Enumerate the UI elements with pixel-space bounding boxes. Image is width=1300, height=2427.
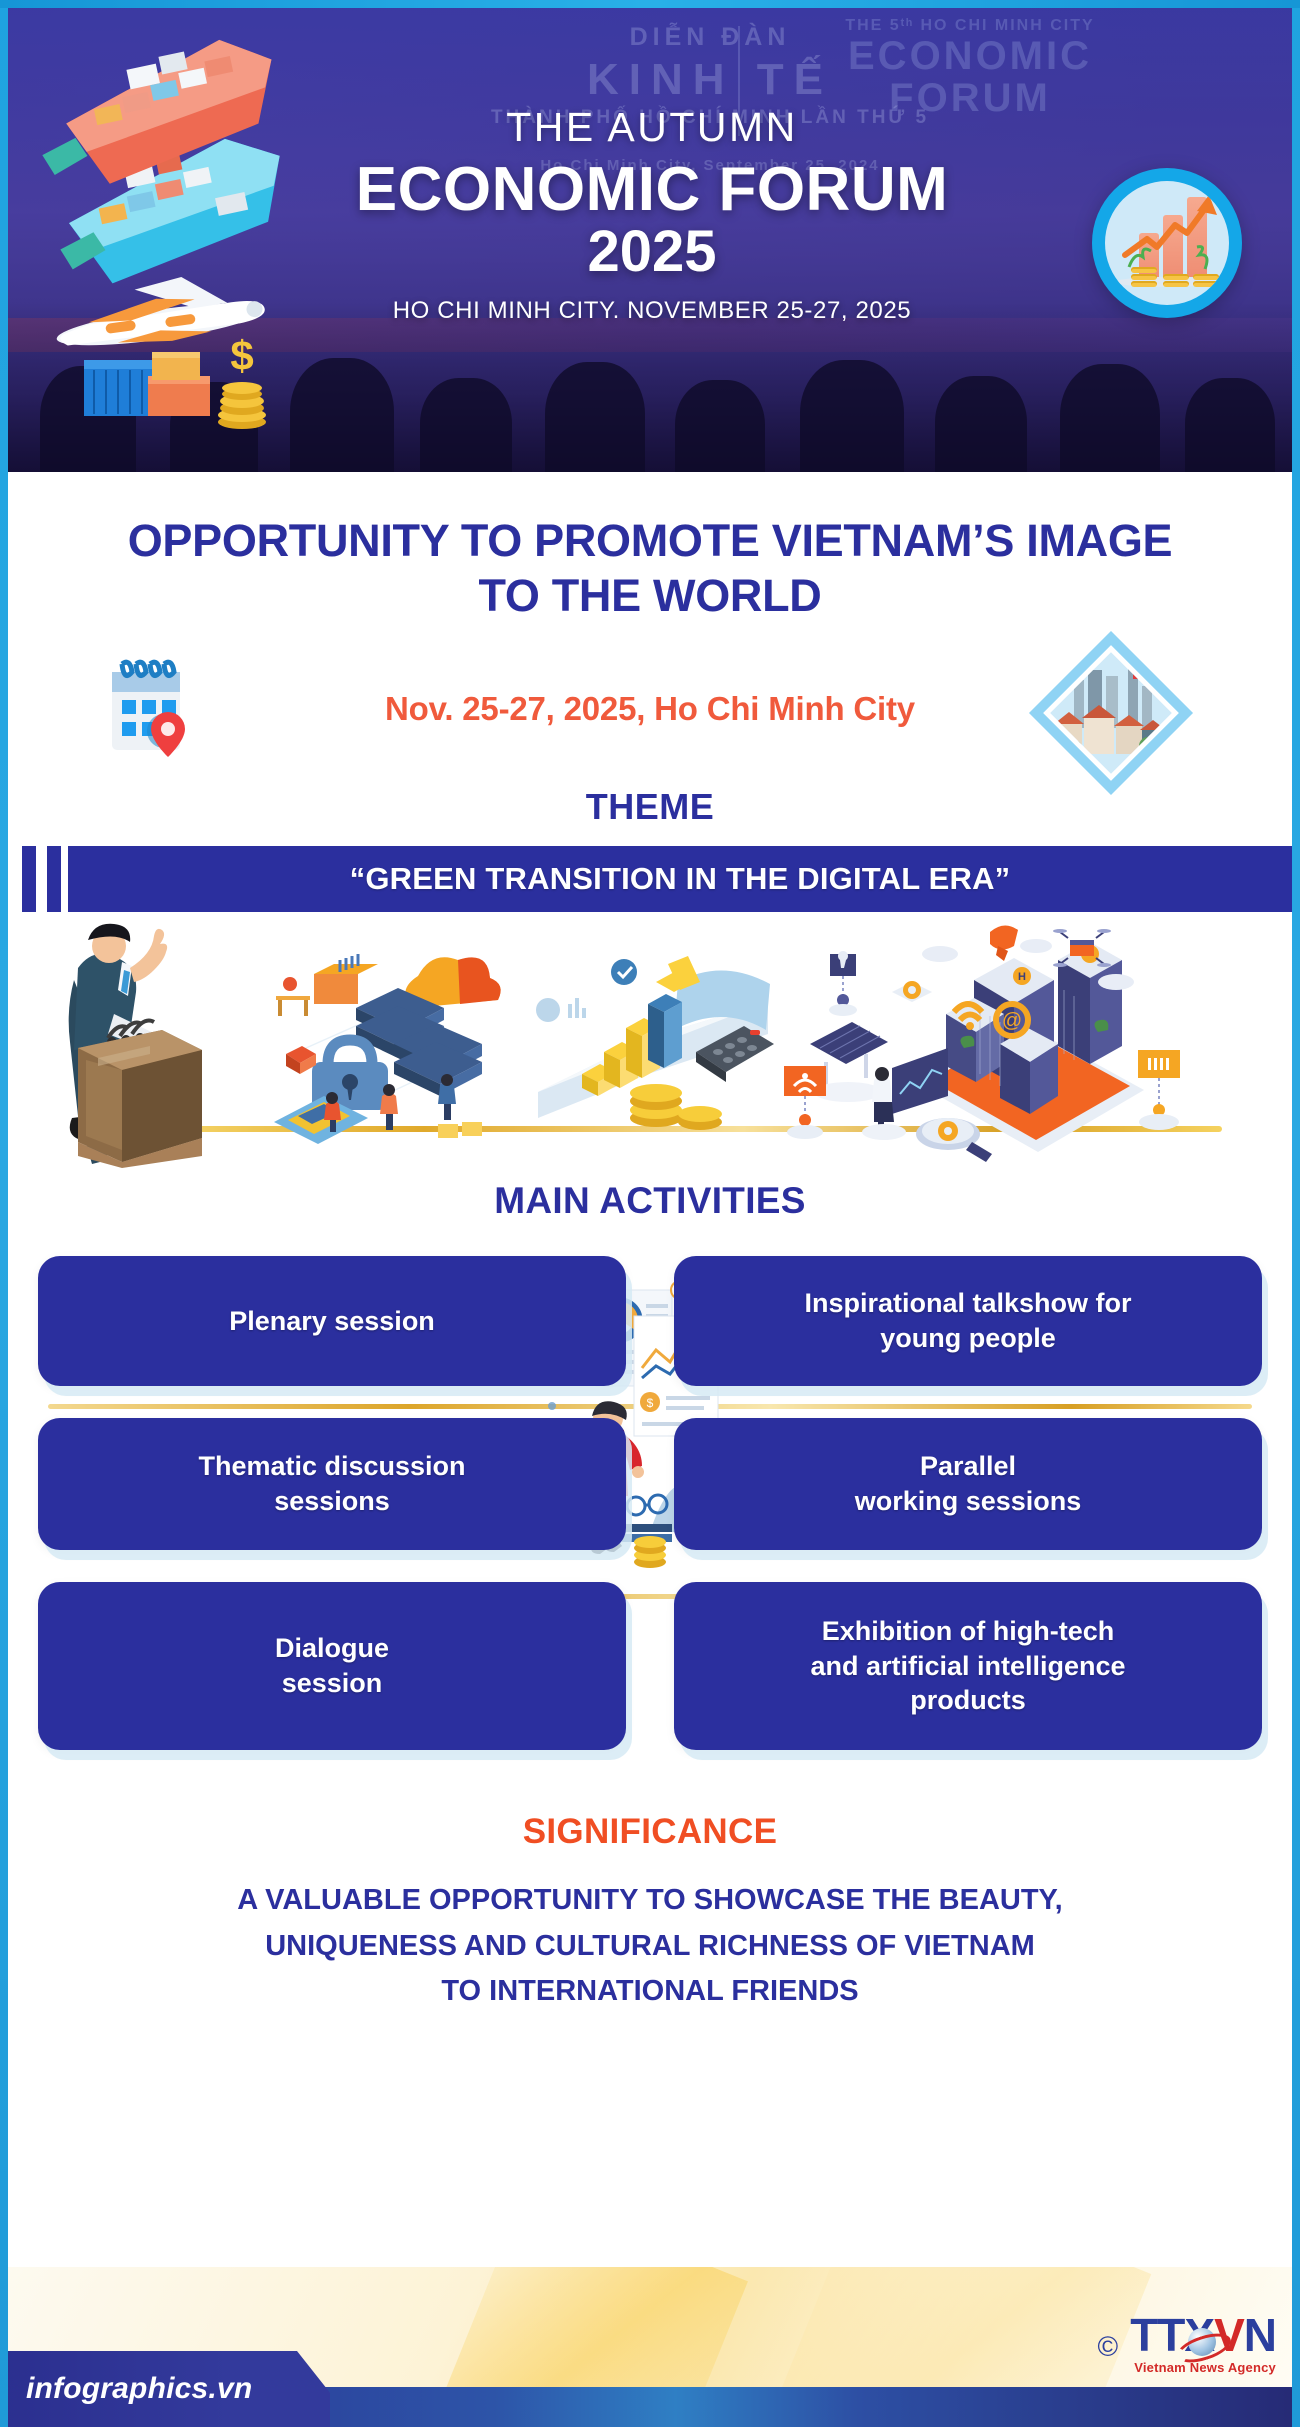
significance-line-3: TO INTERNATIONAL FRIENDS xyxy=(68,1969,1232,2015)
header-banner: DIỄN ĐÀN KINH TẾ THÀNH PHỐ HỒ CHÍ MINH L… xyxy=(0,0,1300,472)
date-location-row: Nov. 25-27, 2025, Ho Chi Minh City xyxy=(8,658,1292,768)
silhouette xyxy=(420,378,512,472)
top-accent-stripe xyxy=(0,0,1300,8)
illustration-band: H @ xyxy=(8,918,1292,1188)
activity-card-inspirational-talkshow[interactable]: Inspirational talkshow for young people xyxy=(674,1256,1262,1386)
theme-accent-ticks xyxy=(22,846,61,912)
growth-chart-inner xyxy=(1105,181,1229,305)
main-content: OPPORTUNITY TO PROMOTE VIETNAM’S IMAGE T… xyxy=(8,472,1292,2427)
page-title-line-1: OPPORTUNITY TO PROMOTE VIETNAM’S IMAGE xyxy=(78,514,1222,569)
silhouette xyxy=(545,362,645,472)
header-title-autumn: THE AUTUMN xyxy=(262,104,1042,151)
activity-label: Inspirational talkshow for young people xyxy=(804,1286,1131,1355)
activity-label: Exhibition of high-tech and artificial i… xyxy=(810,1614,1125,1718)
silhouette xyxy=(1060,364,1160,472)
silhouette xyxy=(935,376,1027,472)
activity-card-thematic-discussion[interactable]: Thematic discussion sessions xyxy=(38,1418,626,1550)
header-subtitle: HO CHI MINH CITY. NOVEMBER 25-27, 2025 xyxy=(262,297,1042,325)
tick-mark xyxy=(22,846,36,912)
silhouette xyxy=(800,360,904,472)
ttxvn-n: N xyxy=(1244,2309,1276,2361)
activity-label: Parallel working sessions xyxy=(855,1449,1082,1518)
ttxvn-letters: TTXVN xyxy=(1130,2312,1276,2358)
tick-mark xyxy=(47,846,61,912)
svg-text:@: @ xyxy=(1002,1010,1022,1032)
left-accent-rail xyxy=(0,0,8,2427)
infographic-page: DIỄN ĐÀN KINH TẾ THÀNH PHỐ HỒ CHÍ MINH L… xyxy=(0,0,1300,2427)
smart-city-icon: H @ xyxy=(768,914,1228,1164)
significance-body: A VALUABLE OPPORTUNITY TO SHOWCASE THE B… xyxy=(8,1878,1292,2015)
activity-card-exhibition[interactable]: Exhibition of high-tech and artificial i… xyxy=(674,1582,1262,1750)
activity-card-parallel-working-sessions[interactable]: Parallel working sessions xyxy=(674,1418,1262,1550)
significance-line-2: UNIQUENESS AND CULTURAL RICHNESS OF VIET… xyxy=(68,1924,1232,1970)
activity-label: Dialogue session xyxy=(275,1631,389,1700)
site-url: infographics.vn xyxy=(0,2372,252,2406)
ttxvn-wordmark: TTXVN Vietnam News Agency xyxy=(1130,2312,1276,2375)
activity-label: Plenary session xyxy=(229,1304,435,1339)
calendar-location-icon xyxy=(104,656,198,760)
activities-row-1: Plenary session Inspirational talkshow f… xyxy=(38,1256,1262,1386)
right-accent-rail xyxy=(1292,0,1300,2427)
site-tab[interactable]: infographics.vn xyxy=(0,2351,330,2427)
silhouette xyxy=(290,358,394,472)
page-title-line-2: TO THE WORLD xyxy=(78,569,1222,624)
header-title-forum: ECONOMIC FORUM xyxy=(262,157,1042,224)
footer: © TTXVN Vietnam News Agency infographics… xyxy=(0,2267,1300,2427)
svg-text:$: $ xyxy=(647,1396,654,1410)
activity-card-plenary-session[interactable]: Plenary session xyxy=(38,1256,626,1386)
speaker-at-podium-icon xyxy=(26,918,246,1168)
bar-chart-growth-icon xyxy=(528,942,778,1142)
header-title-block: THE AUTUMN ECONOMIC FORUM 2025 HO CHI MI… xyxy=(262,104,1042,325)
activity-label: Thematic discussion sessions xyxy=(198,1449,465,1518)
activities-grid: $ xyxy=(38,1256,1262,1750)
activity-card-dialogue-session[interactable]: Dialogue session xyxy=(38,1582,626,1750)
activities-row-3: Dialogue session Exhibition of high-tech… xyxy=(38,1582,1262,1750)
shipping-containers-icon: $ xyxy=(80,330,280,450)
svg-text:$: $ xyxy=(230,332,253,379)
ho-chi-minh-city-diamond-icon xyxy=(1016,618,1206,808)
significance-title: SIGNIFICANCE xyxy=(8,1812,1292,1852)
copyright-icon: © xyxy=(1098,2333,1119,2375)
theme-banner: “GREEN TRANSITION IN THE DIGITAL ERA” xyxy=(68,846,1292,912)
silhouette xyxy=(1185,378,1275,472)
ttxvn-subtitle: Vietnam News Agency xyxy=(1130,2360,1276,2375)
significance-line-1: A VALUABLE OPPORTUNITY TO SHOWCASE THE B… xyxy=(68,1878,1232,1924)
growth-chart-icon xyxy=(1092,168,1242,318)
cloud-data-security-icon xyxy=(268,936,538,1156)
theme-text: “GREEN TRANSITION IN THE DIGITAL ERA” xyxy=(350,861,1011,897)
silhouette xyxy=(675,380,765,472)
activities-row-2: Thematic discussion sessions Parallel wo… xyxy=(38,1418,1262,1550)
page-title: OPPORTUNITY TO PROMOTE VIETNAM’S IMAGE T… xyxy=(8,514,1292,624)
header-title-year: 2025 xyxy=(262,222,1042,281)
ttxvn-logo: © TTXVN Vietnam News Agency xyxy=(1098,2312,1276,2375)
svg-text:H: H xyxy=(1018,971,1026,983)
theme-bar-wrap: “GREEN TRANSITION IN THE DIGITAL ERA” xyxy=(8,846,1292,912)
